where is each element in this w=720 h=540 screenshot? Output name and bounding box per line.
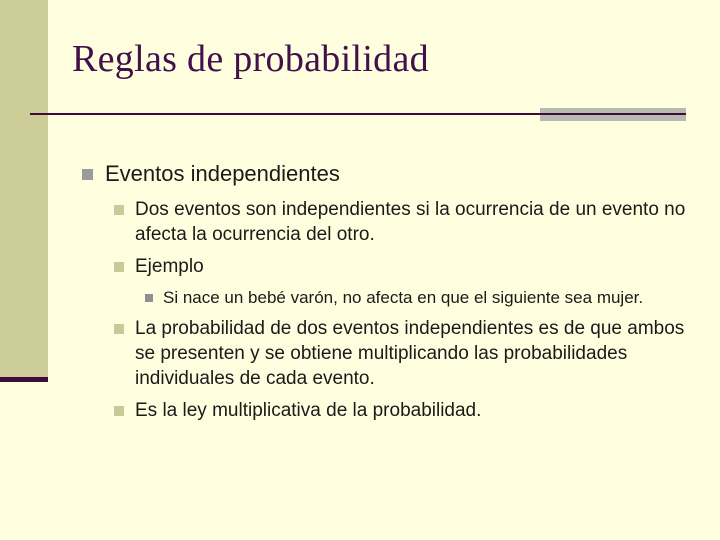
square-bullet-icon <box>114 205 124 215</box>
bullet-level2-text: Ejemplo <box>135 254 720 279</box>
bullet-level2-text: Es la ley multiplicativa de la probabili… <box>135 398 720 423</box>
square-bullet-icon <box>114 324 124 334</box>
bullet-level2: Ejemplo <box>0 254 720 279</box>
bullet-level2: Es la ley multiplicativa de la probabili… <box>0 398 720 423</box>
bullet-level2-text: Dos eventos son independientes si la ocu… <box>135 197 720 247</box>
bullet-level2: La probabilidad de dos eventos independi… <box>0 316 720 391</box>
bullet-level3: Si nace un bebé varón, no afecta en que … <box>0 286 720 309</box>
slide-title: Reglas de probabilidad <box>72 36 672 82</box>
square-bullet-icon <box>114 406 124 416</box>
square-bullet-icon <box>145 294 153 302</box>
bullet-level2-text: La probabilidad de dos eventos independi… <box>135 316 720 391</box>
square-bullet-icon <box>114 262 124 272</box>
slide-canvas: Reglas de probabilidad Eventos independi… <box>0 0 720 540</box>
bullet-level3-text: Si nace un bebé varón, no afecta en que … <box>163 286 720 309</box>
square-bullet-icon <box>82 169 93 180</box>
bullet-level2: Dos eventos son independientes si la ocu… <box>0 197 720 247</box>
bullet-level1-text: Eventos independientes <box>105 160 720 188</box>
slide-body: Eventos independientes Dos eventos son i… <box>0 160 720 427</box>
bullet-level1: Eventos independientes <box>0 160 720 188</box>
title-rule-line <box>30 113 686 115</box>
